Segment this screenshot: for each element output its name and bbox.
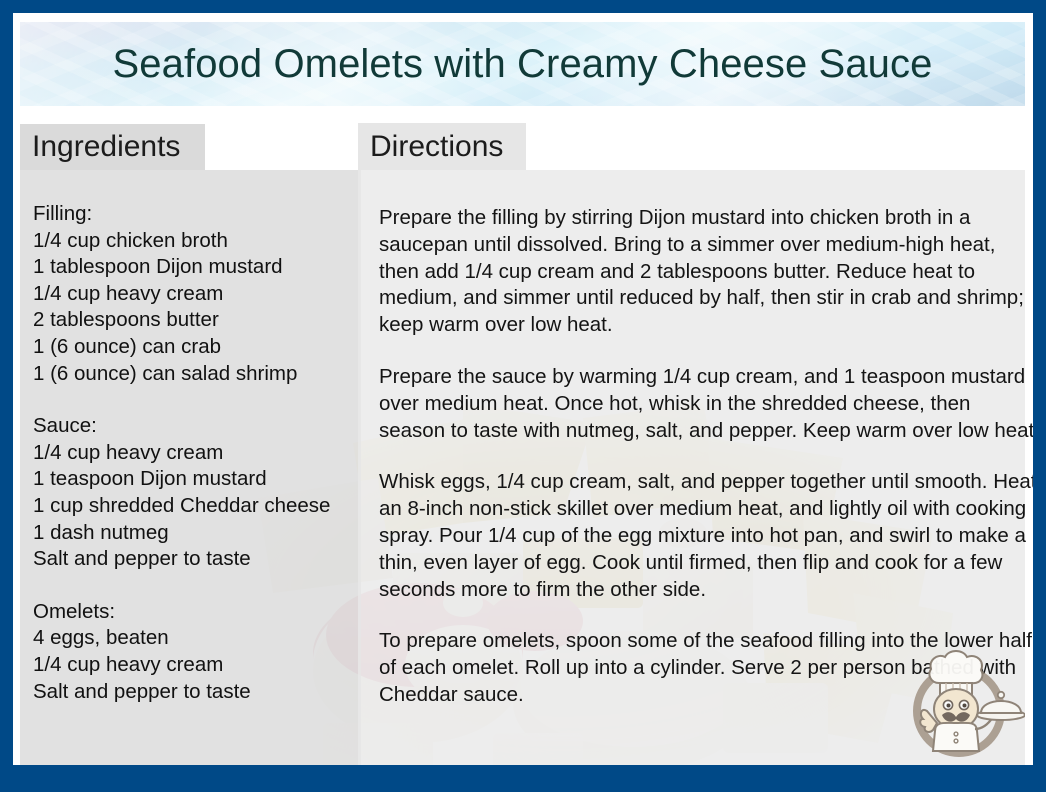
- ingredient-item: 1 teaspoon Dijon mustard: [33, 466, 363, 493]
- ingredient-item: 1/4 cup heavy cream: [33, 652, 363, 679]
- ingredient-group-label: Filling:: [33, 201, 363, 228]
- ingredients-list: Filling: 1/4 cup chicken broth 1 tablesp…: [33, 201, 363, 705]
- direction-paragraph: Prepare the filling by stirring Dijon mu…: [379, 205, 1033, 339]
- title-banner: Seafood Omelets with Creamy Cheese Sauce: [20, 22, 1025, 106]
- ingredient-group-sauce: Sauce: 1/4 cup heavy cream 1 teaspoon Di…: [33, 413, 363, 573]
- ingredients-heading: Ingredients: [20, 130, 180, 164]
- ingredient-item: Salt and pepper to taste: [33, 546, 363, 573]
- directions-heading: Directions: [358, 130, 503, 164]
- ingredient-item: 1 dash nutmeg: [33, 520, 363, 547]
- direction-paragraph: Whisk eggs, 1/4 cup cream, salt, and pep…: [379, 469, 1033, 603]
- ingredient-item: Salt and pepper to taste: [33, 679, 363, 706]
- ingredients-heading-tab: Ingredients: [20, 124, 205, 170]
- directions-steps: Prepare the filling by stirring Dijon mu…: [379, 205, 1033, 709]
- page-title: Seafood Omelets with Creamy Cheese Sauce: [113, 42, 933, 87]
- ingredient-item: 1 cup shredded Cheddar cheese: [33, 493, 363, 520]
- ingredient-item: 4 eggs, beaten: [33, 625, 363, 652]
- recipe-card-page: Seafood Omelets with Creamy Cheese Sauce: [0, 0, 1046, 792]
- ingredient-item: 1/4 cup heavy cream: [33, 440, 363, 467]
- ingredient-item: 1 (6 ounce) can crab: [33, 334, 363, 361]
- direction-paragraph: Prepare the sauce by warming 1/4 cup cre…: [379, 364, 1033, 444]
- ingredient-item: 2 tablespoons butter: [33, 307, 363, 334]
- directions-heading-tab: Directions: [358, 123, 526, 170]
- ingredient-item: 1/4 cup chicken broth: [33, 228, 363, 255]
- ingredient-item: 1/4 cup heavy cream: [33, 281, 363, 308]
- recipe-sheet: Seafood Omelets with Creamy Cheese Sauce: [13, 13, 1033, 765]
- ingredient-group-label: Omelets:: [33, 599, 363, 626]
- ingredient-group-filling: Filling: 1/4 cup chicken broth 1 tablesp…: [33, 201, 363, 387]
- ingredient-item: 1 (6 ounce) can salad shrimp: [33, 361, 363, 388]
- ingredient-group-label: Sauce:: [33, 413, 363, 440]
- ingredient-group-omelets: Omelets: 4 eggs, beaten 1/4 cup heavy cr…: [33, 599, 363, 705]
- ingredient-item: 1 tablespoon Dijon mustard: [33, 254, 363, 281]
- chef-mascot-logo: [897, 639, 1025, 761]
